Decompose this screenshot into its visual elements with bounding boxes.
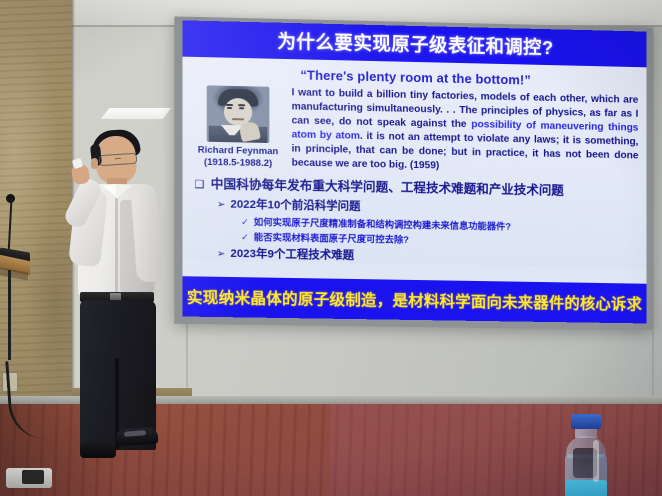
presentation-photo-scene: 为什么要实现原子级表征和调控? “There's plenty room at … <box>0 0 662 496</box>
banner-text: 实现纳米晶体的原子级制造，是材料科学面向未来器件的核心诉求 <box>187 285 642 314</box>
arrow-bullet-icon: ➢ <box>217 249 225 260</box>
feynman-portrait-image <box>207 85 270 143</box>
bottle-water <box>565 480 607 496</box>
quote-line-8: because we are too big. (1959) <box>292 158 440 172</box>
presenter-shoe-right <box>116 427 159 446</box>
ceiling-light-reflection <box>101 108 172 119</box>
portrait-eye-left <box>227 107 232 109</box>
portrait-brow-right <box>238 104 245 106</box>
quote-highlight-1: possibility of maneuvering things <box>471 119 638 133</box>
microphone-stand-pole <box>8 270 11 360</box>
water-bottle <box>560 414 612 496</box>
slide-bottom-banner: 实现纳米晶体的原子级制造，是材料科学面向未来器件的核心诉求 <box>182 276 646 323</box>
bullet-level1-text: 中国科协每年发布重大科学问题、工程技术难题和产业技术问题 <box>211 173 564 199</box>
floor-sheen <box>330 404 662 496</box>
presenter-shoe-left <box>80 442 116 458</box>
portrait-face <box>224 98 252 126</box>
arrow-bullet-icon: ➢ <box>217 199 225 210</box>
portrait-mouth <box>232 118 244 120</box>
check-bullet-icon: ✓ <box>241 232 249 243</box>
projected-slide: 为什么要实现原子级表征和调控? “There's plenty room at … <box>182 20 646 323</box>
portrait-name: Richard Feynman (1918.5-1988.2) <box>191 144 286 170</box>
slide-body: “There's plenty room at the bottom!” <box>182 57 646 284</box>
bullet-level3-text: 能否实现材料表面原子尺度可控去除? <box>254 229 409 246</box>
feynman-portrait-block: Richard Feynman (1918.5-1988.2) <box>191 83 286 170</box>
bottle-cap <box>571 414 601 429</box>
portrait-eye-right <box>239 107 244 109</box>
presenter-ear <box>91 158 98 169</box>
quote-line-3: can see, do not speak against the <box>292 115 472 130</box>
slide-title: 为什么要实现原子级表征和调控? <box>277 28 553 61</box>
wall-seam-right <box>652 26 654 404</box>
quote-text-block: I want to build a billion tiny factories… <box>292 85 639 177</box>
bottle-highlight <box>593 440 599 482</box>
quote-highlight-2: atom by atom <box>292 129 360 141</box>
bottle-neck <box>575 428 597 438</box>
square-bullet-icon: ❑ <box>195 178 205 191</box>
portrait-brow-left <box>226 104 233 106</box>
presenter <box>58 128 178 458</box>
portrait-hand <box>238 121 261 142</box>
quote-paragraph: I want to build a billion tiny factories… <box>292 86 639 177</box>
portrait-dates-text: (1918.5-1988.2) <box>191 156 286 170</box>
quote-row: Richard Feynman (1918.5-1988.2) I want t… <box>191 83 639 177</box>
presenter-shirt-placket <box>115 198 118 294</box>
check-bullet-icon: ✓ <box>241 217 249 228</box>
floor-power-box-lid <box>22 470 44 484</box>
presenter-arm-left <box>131 189 163 283</box>
bullet-level2-text: 2022年10个前沿科学问题 <box>230 196 360 214</box>
